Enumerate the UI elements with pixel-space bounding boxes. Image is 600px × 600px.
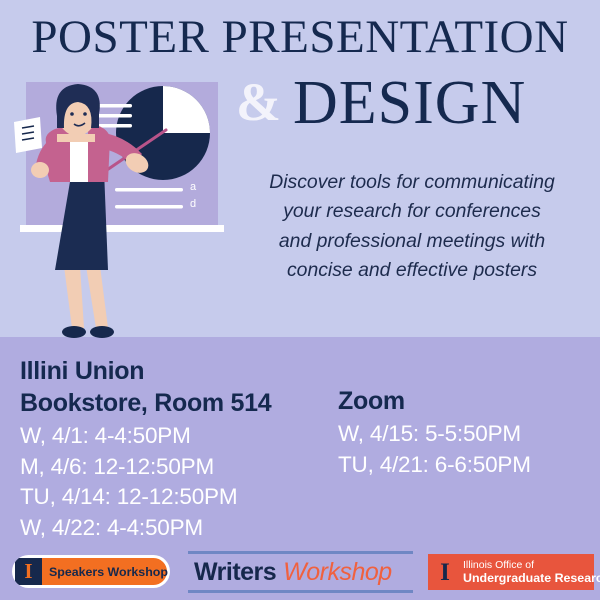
venue-left-line1: Illini Union	[20, 355, 340, 387]
speakers-workshop-label: Speakers Workshop	[49, 565, 168, 579]
poster-canvas: POSTER PRESENTATION &DESIGN Discover too…	[0, 0, 600, 600]
presenter-illustration: a d	[0, 70, 235, 340]
workshop-word: Workshop	[283, 558, 392, 586]
shoe-left	[62, 326, 86, 338]
session-item: TU, 4/21: 6-6:50PM	[338, 450, 588, 481]
session-list-left: W, 4/1: 4-4:50PM M, 4/6: 12-12:50PM TU, …	[20, 421, 340, 543]
illinois-block-i-icon: I	[15, 558, 42, 585]
board-ledge	[20, 225, 224, 232]
session-item: W, 4/15: 5-5:50PM	[338, 419, 588, 450]
venue-title-right: Zoom	[338, 385, 588, 417]
writers-rule-top	[188, 551, 413, 554]
page-title-line1: POSTER PRESENTATION	[0, 14, 600, 61]
board-mark-d: d	[190, 198, 196, 210]
board-line-4	[115, 188, 183, 192]
board-mark-a: a	[190, 181, 197, 193]
uor-line-2: Undergraduate Research	[463, 571, 600, 585]
block-i-glyph-2: I	[440, 560, 450, 585]
undergrad-research-label: Illinois Office of Undergraduate Researc…	[463, 559, 600, 585]
illinois-block-i-icon-2: I	[434, 558, 456, 586]
description-line-2: your research for conferences	[228, 197, 596, 226]
leg-right	[86, 266, 108, 328]
handout-paper	[14, 117, 42, 153]
writers-word: Writers	[194, 558, 276, 586]
ampersand-glyph: &	[236, 72, 281, 132]
writers-workshop-label: Writers Workshop	[194, 558, 392, 586]
description-line-1: Discover tools for communicating	[228, 168, 596, 197]
page-title-design: DESIGN	[293, 69, 526, 137]
shoe-right	[90, 326, 114, 338]
session-item: W, 4/1: 4-4:50PM	[20, 421, 340, 452]
venue-left-line2: Bookstore, Room 514	[20, 387, 340, 419]
hand-left	[31, 162, 49, 178]
schedule-column-illini-union: Illini Union Bookstore, Room 514 W, 4/1:…	[20, 355, 340, 543]
neck	[57, 134, 95, 142]
writers-rule-bottom	[188, 590, 413, 593]
eye-left	[70, 112, 74, 116]
session-item: TU, 4/14: 12-12:50PM	[20, 482, 340, 513]
board-line-5	[115, 205, 183, 209]
venue-right-line1: Zoom	[338, 385, 588, 417]
logo-undergraduate-research[interactable]: I Illinois Office of Undergraduate Resea…	[428, 554, 594, 590]
uor-line-1: Illinois Office of	[463, 559, 600, 571]
block-i-glyph: I	[24, 561, 32, 582]
logo-writers-workshop[interactable]: Writers Workshop	[188, 551, 413, 593]
session-list-right: W, 4/15: 5-5:50PM TU, 4/21: 6-6:50PM	[338, 419, 588, 480]
leg-left	[64, 266, 84, 328]
page-title-line2: &DESIGN	[236, 72, 600, 134]
session-item: M, 4/6: 12-12:50PM	[20, 452, 340, 483]
schedule-column-zoom: Zoom W, 4/15: 5-5:50PM TU, 4/21: 6-6:50P…	[338, 385, 588, 480]
logo-speakers-workshop[interactable]: I Speakers Workshop	[12, 555, 170, 588]
session-item: W, 4/22: 4-4:50PM	[20, 513, 340, 544]
description-text: Discover tools for communicating your re…	[228, 168, 596, 286]
description-line-4: concise and effective posters	[228, 256, 596, 285]
venue-title-left: Illini Union Bookstore, Room 514	[20, 355, 340, 419]
description-line-3: and professional meetings with	[228, 227, 596, 256]
eye-right	[83, 112, 87, 116]
